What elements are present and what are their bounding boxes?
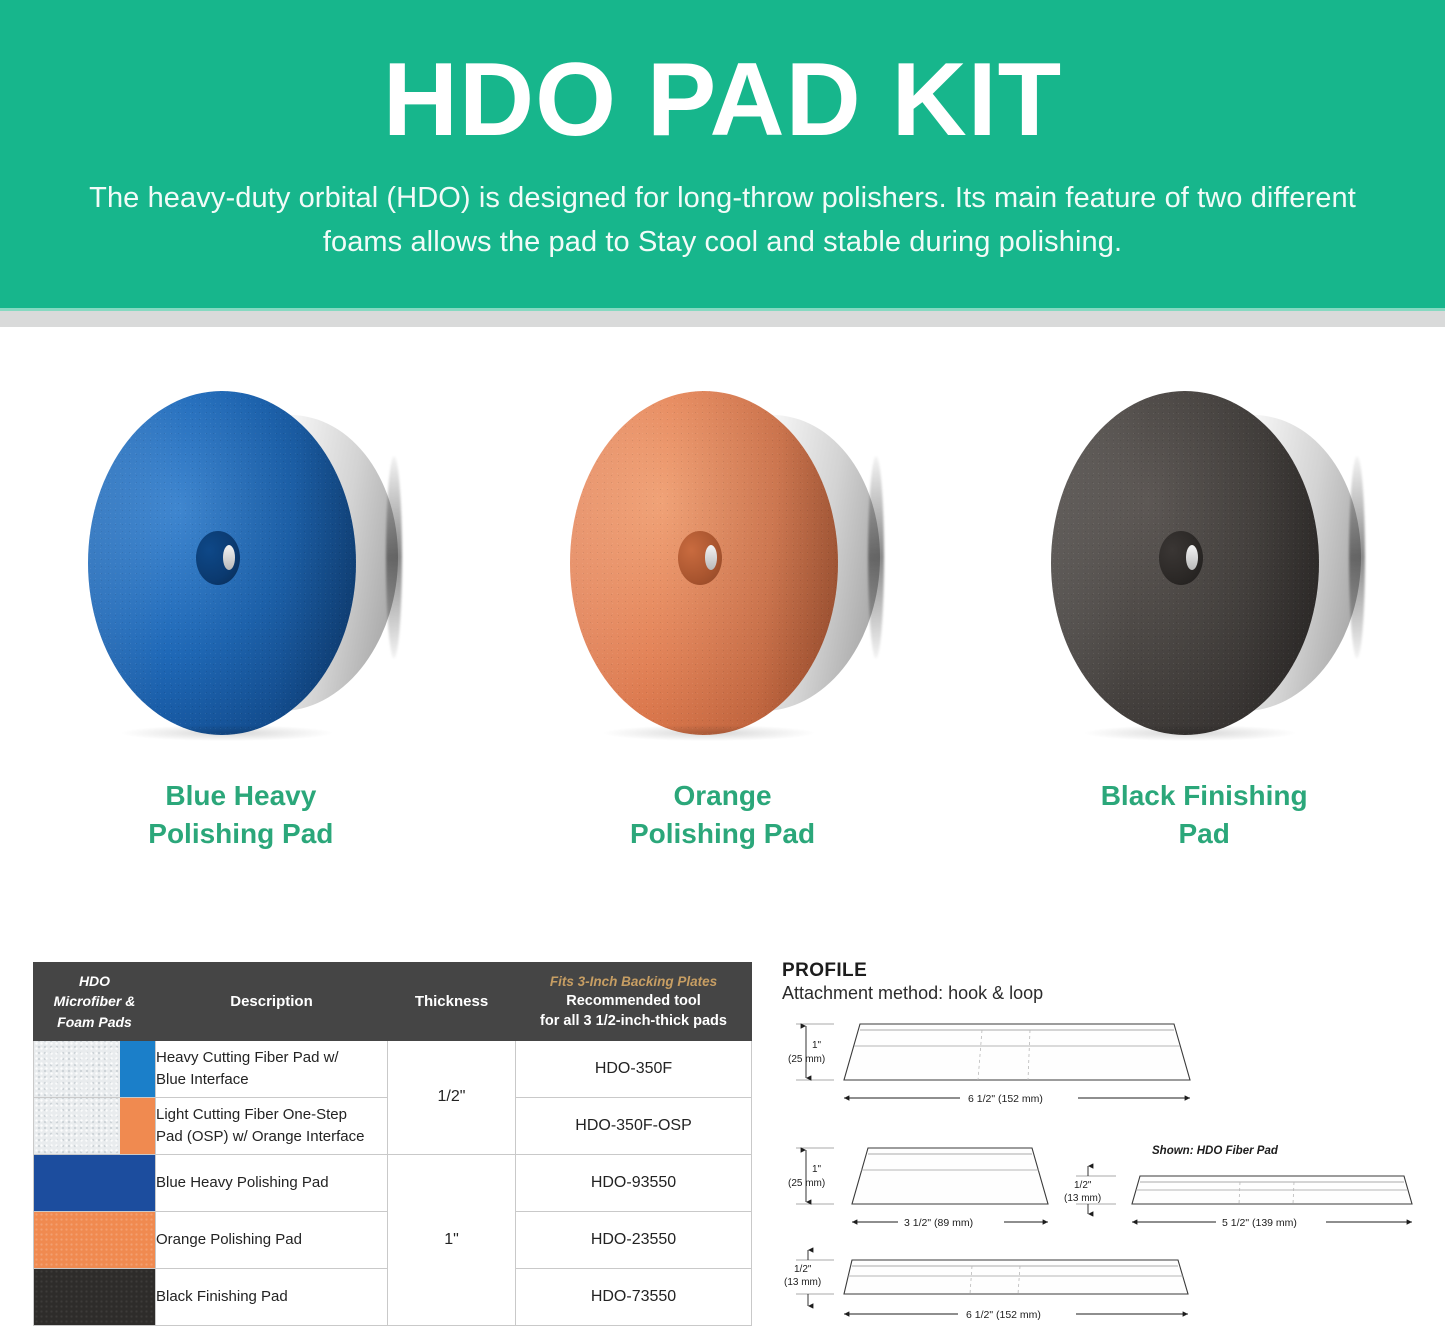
swatch-solid-black bbox=[34, 1269, 155, 1325]
swatch-solid-orange bbox=[34, 1212, 155, 1268]
description-line2: Blue Interface bbox=[156, 1071, 249, 1088]
product-black-finishing-pad: Black Finishing Pad bbox=[963, 345, 1445, 875]
product-blue-heavy-polishing-pad: Blue Heavy Polishing Pad bbox=[0, 345, 482, 875]
profile-diagram-5half-thin: Shown: HDO Fiber Pad 1/2" (13 mm) 5 1/2"… bbox=[1064, 1145, 1412, 1229]
description-cell: Orange Polishing Pad bbox=[156, 1211, 388, 1268]
swatch-cell-heavy-cutting-fiber bbox=[34, 1040, 156, 1097]
solid-color-area bbox=[34, 1212, 155, 1268]
swatch-cell-blue-heavy bbox=[34, 1154, 156, 1211]
center-hole-black bbox=[1159, 531, 1203, 585]
column-header-thickness: Thickness bbox=[388, 963, 516, 1041]
description-line1: Heavy Cutting Fiber Pad w/ bbox=[156, 1049, 339, 1066]
microfiber-area bbox=[34, 1041, 120, 1097]
dim-width-3: 5 1/2" (139 mm) bbox=[1222, 1217, 1297, 1229]
description-cell: Blue Heavy Polishing Pad bbox=[156, 1154, 388, 1211]
interface-strip-blue bbox=[120, 1041, 155, 1097]
page-title: HDO PAD KIT bbox=[55, 46, 1390, 155]
swatch-header-line1: HDO bbox=[79, 973, 110, 989]
description-line1: Light Cutting Fiber One-Step bbox=[156, 1106, 347, 1123]
pad-image-blue bbox=[76, 363, 406, 763]
tool-header-rec-line2: for all 3 1/2-inch-thick pads bbox=[522, 1012, 745, 1030]
tool-cell: HDO-350F bbox=[516, 1040, 752, 1097]
product-label-black-line2: Pad bbox=[1178, 818, 1229, 849]
swatch-header-line3: Foam Pads bbox=[57, 1014, 132, 1030]
swatch-solid-blue bbox=[34, 1155, 155, 1211]
column-header-tool: Fits 3-Inch Backing Plates Recommended t… bbox=[516, 963, 752, 1041]
product-label-orange-line2: Polishing Pad bbox=[630, 818, 815, 849]
swatch-cell-black-finishing bbox=[34, 1268, 156, 1325]
pad-image-black bbox=[1039, 363, 1369, 763]
pad-shadow-orange bbox=[604, 725, 814, 741]
dim-height-in-4: 1/2" bbox=[794, 1264, 812, 1275]
description-cell: Light Cutting Fiber One-Step Pad (OSP) w… bbox=[156, 1097, 388, 1154]
column-header-swatch: HDO Microfiber & Foam Pads bbox=[34, 963, 156, 1041]
microfiber-area bbox=[34, 1098, 120, 1154]
table-row: Blue Heavy Polishing Pad 1" HDO-93550 bbox=[34, 1154, 752, 1211]
tool-header-rec-line1: Recommended tool bbox=[522, 992, 745, 1010]
center-hole-orange bbox=[678, 531, 722, 585]
product-label-black-line1: Black Finishing bbox=[1101, 780, 1308, 811]
pad-image-orange bbox=[558, 363, 888, 763]
product-label-black: Black Finishing Pad bbox=[1101, 777, 1308, 853]
swatch-header-line2: Microfiber & bbox=[54, 993, 136, 1009]
profile-title: PROFILE bbox=[782, 960, 1432, 982]
profile-diagram-6half-thin: 1/2" (13 mm) 6 1/2" (152 mm) bbox=[784, 1250, 1188, 1321]
profile-diagrams: 1" (25 mm) 6 1/2" (152 mm) 1" (25 bbox=[782, 1018, 1432, 1328]
header-gray-band bbox=[0, 311, 1445, 327]
table-row: Heavy Cutting Fiber Pad w/ Blue Interfac… bbox=[34, 1040, 752, 1097]
tool-header-gold: Fits 3-Inch Backing Plates bbox=[522, 973, 745, 991]
product-label-orange-line1: Orange bbox=[673, 780, 771, 811]
thickness-cell-one-inch: 1" bbox=[388, 1154, 516, 1325]
solid-color-area bbox=[34, 1155, 155, 1211]
dim-height-mm-2: (25 mm) bbox=[788, 1178, 825, 1189]
table-header-row: HDO Microfiber & Foam Pads Description T… bbox=[34, 963, 752, 1041]
dim-height-in-1: 1" bbox=[812, 1040, 822, 1051]
header-subtitle: The heavy-duty orbital (HDO) is designed… bbox=[55, 177, 1390, 264]
interface-strip-orange bbox=[120, 1098, 155, 1154]
lower-section: HDO Microfiber & Foam Pads Description T… bbox=[0, 950, 1445, 1337]
solid-color-area bbox=[34, 1269, 155, 1325]
swatch-cell-light-cutting-fiber bbox=[34, 1097, 156, 1154]
infographic-page: HDO PAD KIT The heavy-duty orbital (HDO)… bbox=[0, 0, 1445, 1337]
thickness-cell-half-inch: 1/2" bbox=[388, 1040, 516, 1154]
product-label-blue-line1: Blue Heavy bbox=[165, 780, 316, 811]
specifications-table: HDO Microfiber & Foam Pads Description T… bbox=[33, 962, 752, 1326]
profile-diagram-3half-tall: 1" (25 mm) 3 1/2" (89 mm) bbox=[788, 1148, 1048, 1229]
tool-cell: HDO-93550 bbox=[516, 1154, 752, 1211]
center-hole-blue bbox=[196, 531, 240, 585]
profile-subtitle: Attachment method: hook & loop bbox=[782, 983, 1432, 1004]
dim-height-in-2: 1" bbox=[812, 1164, 822, 1175]
profile-section: PROFILE Attachment method: hook & loop bbox=[782, 960, 1432, 1328]
dim-width-2: 3 1/2" (89 mm) bbox=[904, 1217, 973, 1229]
swatch-fiber-orange bbox=[34, 1098, 155, 1154]
header-banner: HDO PAD KIT The heavy-duty orbital (HDO)… bbox=[0, 0, 1445, 308]
product-label-blue: Blue Heavy Polishing Pad bbox=[148, 777, 333, 853]
dim-height-mm-4: (13 mm) bbox=[784, 1277, 821, 1288]
description-cell: Heavy Cutting Fiber Pad w/ Blue Interfac… bbox=[156, 1040, 388, 1097]
product-label-blue-line2: Polishing Pad bbox=[148, 818, 333, 849]
profile-diagram-6half-tall: 1" (25 mm) 6 1/2" (152 mm) bbox=[788, 1024, 1190, 1105]
dim-width-1: 6 1/2" (152 mm) bbox=[968, 1093, 1043, 1105]
dim-height-in-3: 1/2" bbox=[1074, 1180, 1092, 1191]
product-gallery: Blue Heavy Polishing Pad Orange Polishin… bbox=[0, 345, 1445, 875]
tool-cell: HDO-350F-OSP bbox=[516, 1097, 752, 1154]
description-line2: Pad (OSP) w/ Orange Interface bbox=[156, 1128, 364, 1145]
dim-width-4: 6 1/2" (152 mm) bbox=[966, 1309, 1041, 1321]
pad-shadow-black bbox=[1085, 725, 1295, 741]
tool-cell: HDO-23550 bbox=[516, 1211, 752, 1268]
tool-cell: HDO-73550 bbox=[516, 1268, 752, 1325]
dim-height-mm-3: (13 mm) bbox=[1064, 1193, 1101, 1204]
pad-shadow-blue bbox=[122, 725, 332, 741]
swatch-cell-orange-polishing bbox=[34, 1211, 156, 1268]
product-label-orange: Orange Polishing Pad bbox=[630, 777, 815, 853]
profile-note: Shown: HDO Fiber Pad bbox=[1152, 1145, 1279, 1157]
column-header-description: Description bbox=[156, 963, 388, 1041]
description-cell: Black Finishing Pad bbox=[156, 1268, 388, 1325]
swatch-fiber-blue bbox=[34, 1041, 155, 1097]
dim-height-mm-1: (25 mm) bbox=[788, 1054, 825, 1065]
product-orange-polishing-pad: Orange Polishing Pad bbox=[482, 345, 964, 875]
